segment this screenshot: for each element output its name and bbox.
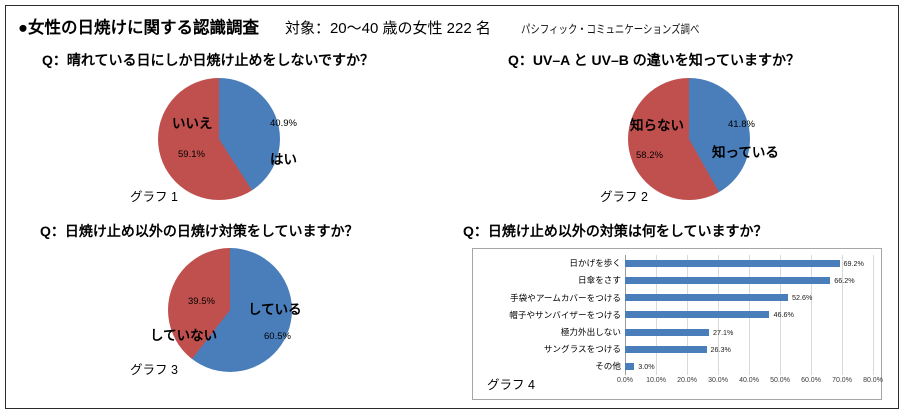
graph4-x-tick: 10.0%	[646, 377, 666, 384]
graph4-bar	[625, 329, 709, 336]
graph4-x-tick: 20.0%	[677, 377, 697, 384]
graph3-label-shiteiru: している	[248, 298, 302, 318]
graph1-label-iie: いいえ	[172, 112, 213, 132]
graph4-category-label: サングラスをつける	[544, 345, 621, 354]
graph3-pie-block: している 60.5% 39.5% していない グラフ 3	[130, 246, 380, 381]
graph4-gridline	[873, 255, 874, 375]
graph1-name: グラフ 1	[130, 186, 178, 205]
graph4-category-label: その他	[595, 362, 621, 371]
graph3-name: グラフ 3	[130, 359, 178, 378]
graph4-bar	[625, 260, 840, 267]
graph1-value-iie: 59.1%	[178, 149, 205, 160]
graph4-bar-row: 日かげを歩く69.2%	[625, 255, 873, 272]
graph4-bar	[625, 363, 634, 370]
graph4-x-axis: 0.0%10.0%20.0%30.0%40.0%50.0%60.0%70.0%8…	[625, 377, 873, 389]
graph4-plot-area: 日かげを歩く69.2%日傘をさす66.2%手袋やアームカバーをつける52.6%帽…	[625, 255, 873, 375]
graph4-value-label: 66.2%	[834, 277, 854, 284]
graph1-pie-block: 40.9% はい いいえ 59.1% グラフ 1	[130, 76, 370, 206]
graph4-bar-row: 極力外出しない27.1%	[625, 324, 873, 341]
survey-target: 対象：20～40 歳の女性 222 名	[285, 17, 491, 38]
graph3-value-shiteinai: 39.5%	[188, 296, 215, 307]
graph4-bar	[625, 346, 707, 353]
graph4-bar	[625, 311, 769, 318]
graph1-label-hai: はい	[270, 148, 297, 168]
graph2-pie-block: 41.8% 知っている 知らない 58.2% グラフ 2	[600, 76, 850, 206]
graph4-value-label: 27.1%	[713, 329, 733, 336]
graph4-x-tick: 60.0%	[801, 377, 821, 384]
graph4-category-label: 帽子やサンバイザーをつける	[509, 311, 621, 320]
graph2-pie	[628, 78, 750, 200]
graph4-category-label: 手袋やアームカバーをつける	[510, 294, 621, 303]
graph3-label-shiteinai: していない	[150, 324, 217, 344]
graph4-value-label: 3.0%	[638, 363, 654, 370]
infographic-page: ●女性の日焼けに関する認識調査 対象：20～40 歳の女性 222 名 パシフィ…	[0, 0, 904, 420]
graph4-bar-row: 日傘をさす66.2%	[625, 272, 873, 289]
question-4-title: Q：日焼け止め以外の対策は何をしていますか？	[463, 221, 767, 241]
graph2-label-shiranai: 知らない	[630, 114, 684, 134]
graph4-bar-row: その他3.0%	[625, 358, 873, 375]
graph4-bar-chart: 日かげを歩く69.2%日傘をさす66.2%手袋やアームカバーをつける52.6%帽…	[472, 248, 882, 400]
graph1-value-hai: 40.9%	[270, 118, 297, 129]
graph4-bar-rows: 日かげを歩く69.2%日傘をさす66.2%手袋やアームカバーをつける52.6%帽…	[625, 255, 873, 375]
graph2-value-shiranai: 58.2%	[636, 150, 663, 161]
header: ●女性の日焼けに関する認識調査 対象：20～40 歳の女性 222 名 パシフィ…	[18, 14, 884, 38]
graph4-category-label: 極力外出しない	[561, 328, 621, 337]
graph4-bar-row: 手袋やアームカバーをつける52.6%	[625, 289, 873, 306]
graph4-bar-row: 帽子やサンバイザーをつける46.6%	[625, 306, 873, 323]
graph4-x-tick: 80.0%	[863, 377, 883, 384]
graph4-x-tick: 70.0%	[832, 377, 852, 384]
question-2-title: Q：UV–A と UV–B の違いを知っていますか？	[508, 50, 800, 70]
graph4-name: グラフ 4	[487, 374, 535, 393]
bullet-icon: ●	[18, 19, 28, 37]
page-title: ●女性の日焼けに関する認識調査	[18, 14, 259, 38]
page-title-text: 女性の日焼けに関する認識調査	[28, 19, 259, 37]
graph4-x-tick: 0.0%	[617, 377, 633, 384]
graph4-bar-row: サングラスをつける26.3%	[625, 341, 873, 358]
graph3-value-shiteiru: 60.5%	[264, 331, 291, 342]
graph4-category-label: 日かげを歩く	[569, 259, 621, 268]
survey-source: パシフィック・コミュニケーションズ調べ	[521, 21, 699, 37]
graph4-bar	[625, 294, 788, 301]
question-1-title: Q：晴れている日にしか日焼け止めをしないですか？	[42, 50, 374, 70]
graph4-value-label: 69.2%	[844, 260, 864, 267]
question-3-title: Q：日焼け止め以外の日焼け対策をしていますか？	[40, 221, 358, 241]
graph4-value-label: 26.3%	[711, 346, 731, 353]
graph4-x-tick: 30.0%	[708, 377, 728, 384]
graph1-pie	[158, 78, 280, 200]
graph2-name: グラフ 2	[600, 186, 648, 205]
graph4-x-tick: 40.0%	[739, 377, 759, 384]
graph4-category-label: 日傘をさす	[578, 276, 621, 285]
graph2-value-shitteiru: 41.8%	[728, 119, 755, 130]
graph4-x-tick: 50.0%	[770, 377, 790, 384]
graph2-label-shitteiru: 知っている	[712, 141, 779, 161]
graph4-value-label: 52.6%	[792, 294, 812, 301]
graph4-value-label: 46.6%	[773, 311, 793, 318]
graph4-bar	[625, 277, 830, 284]
